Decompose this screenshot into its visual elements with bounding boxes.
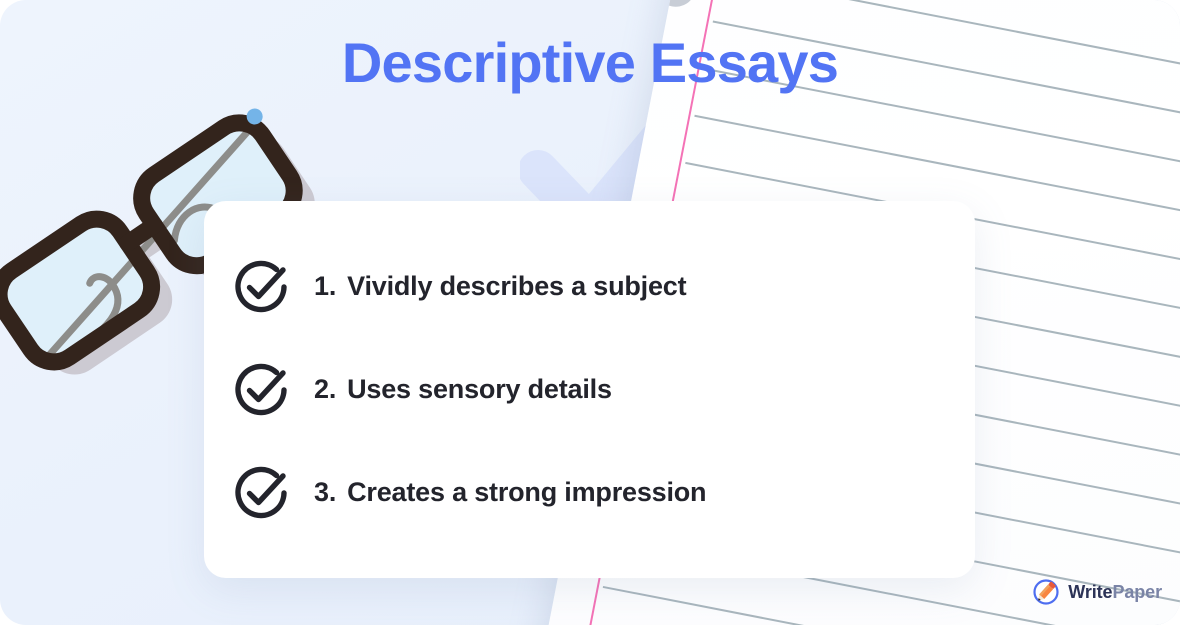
brand-name: WritePaper (1068, 582, 1162, 603)
list-item: 3. Creates a strong impression (230, 454, 935, 532)
list-item-label: Creates a strong impression (347, 477, 706, 508)
list-item-label: Uses sensory details (347, 374, 612, 405)
brand-lockup: WritePaper (1031, 577, 1162, 607)
check-circle-icon (230, 359, 292, 421)
brand-name-second: Paper (1112, 582, 1162, 602)
writepaper-pencil-logo-icon (1031, 577, 1061, 607)
list-item-text: 3. Creates a strong impression (314, 477, 706, 508)
check-circle-icon (230, 462, 292, 524)
list-item-text: 1. Vividly describes a subject (314, 271, 686, 302)
list-item-label: Vividly describes a subject (347, 271, 686, 302)
list-item-number: 1. (314, 271, 336, 302)
check-circle-icon (230, 256, 292, 318)
list-item-text: 2. Uses sensory details (314, 374, 612, 405)
features-card: 1. Vividly describes a subject 2. Uses s… (204, 201, 975, 578)
brand-name-first: Write (1068, 582, 1112, 602)
page-title: Descriptive Essays (0, 30, 1180, 95)
list-item-number: 3. (314, 477, 336, 508)
list-item: 1. Vividly describes a subject (230, 248, 935, 326)
list-item: 2. Uses sensory details (230, 351, 935, 429)
list-item-number: 2. (314, 374, 336, 405)
poster-canvas: Descriptive Essays 1. Vividly describes … (0, 0, 1180, 625)
